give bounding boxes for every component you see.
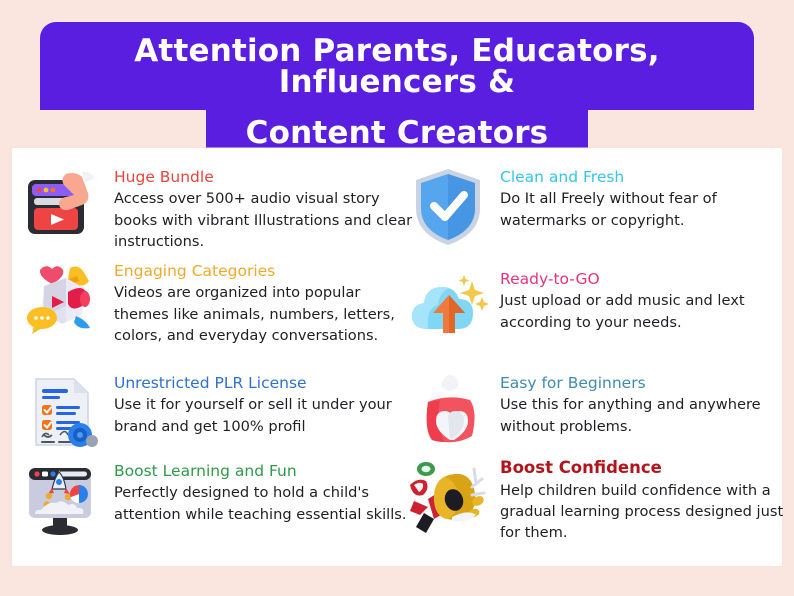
feature-boost-confidence: Boost Confidence Help children build con… bbox=[404, 454, 794, 543]
header-title-line-1: Attention Parents, Educators, Influencer… bbox=[40, 22, 754, 110]
feature-title: Clean and Fresh bbox=[500, 168, 794, 187]
feature-title: Easy for Beginners bbox=[500, 374, 794, 393]
license-document-icon bbox=[18, 370, 106, 456]
feature-ready-to-go: Ready-to-GO Just upload or add music and… bbox=[404, 266, 794, 352]
feature-title: Boost Confidence bbox=[500, 458, 794, 479]
feature-body: Videos are organized into popular themes… bbox=[114, 282, 418, 345]
feature-body: Do It all Freely without fear of waterma… bbox=[500, 188, 794, 230]
shield-check-icon bbox=[404, 164, 492, 250]
features-grid: Huge Bundle Access over 500+ audio visua… bbox=[12, 148, 782, 566]
feature-engaging-categories: Engaging Categories Videos are organized… bbox=[18, 258, 418, 346]
rocket-monitor-icon bbox=[18, 458, 106, 544]
feature-body: Perfectly designed to hold a child's att… bbox=[114, 482, 418, 524]
feature-huge-bundle: Huge Bundle Access over 500+ audio visua… bbox=[18, 164, 418, 252]
feature-title: Boost Learning and Fun bbox=[114, 462, 418, 481]
feature-body: Use it for yourself or sell it under you… bbox=[114, 394, 418, 436]
heart-like-icon bbox=[404, 370, 492, 456]
feature-body: Just upload or add music and lext accord… bbox=[500, 290, 794, 332]
feature-body: Use this for anything and anywhere witho… bbox=[500, 394, 794, 436]
feature-clean-and-fresh: Clean and Fresh Do It all Freely without… bbox=[404, 164, 794, 250]
header-banner: Attention Parents, Educators, Influencer… bbox=[0, 22, 794, 165]
social-media-engagement-icon bbox=[18, 258, 106, 344]
feature-boost-learning: Boost Learning and Fun Perfectly designe… bbox=[18, 458, 418, 544]
cloud-upload-sparkle-icon bbox=[404, 266, 492, 352]
feature-body: Access over 500+ audio visual story book… bbox=[114, 188, 418, 251]
megaphone-announcement-icon bbox=[404, 454, 492, 540]
feature-title: Engaging Categories bbox=[114, 262, 418, 281]
feature-plr-license: Unrestricted PLR License Use it for your… bbox=[18, 370, 418, 456]
feature-body: Help children build confidence with a gr… bbox=[500, 480, 794, 543]
video-player-click-icon bbox=[18, 164, 106, 250]
feature-title: Ready-to-GO bbox=[500, 270, 794, 289]
feature-easy-for-beginners: Easy for Beginners Use this for anything… bbox=[404, 370, 794, 456]
feature-title: Huge Bundle bbox=[114, 168, 418, 187]
feature-title: Unrestricted PLR License bbox=[114, 374, 418, 393]
features-card: Huge Bundle Access over 500+ audio visua… bbox=[12, 148, 782, 566]
